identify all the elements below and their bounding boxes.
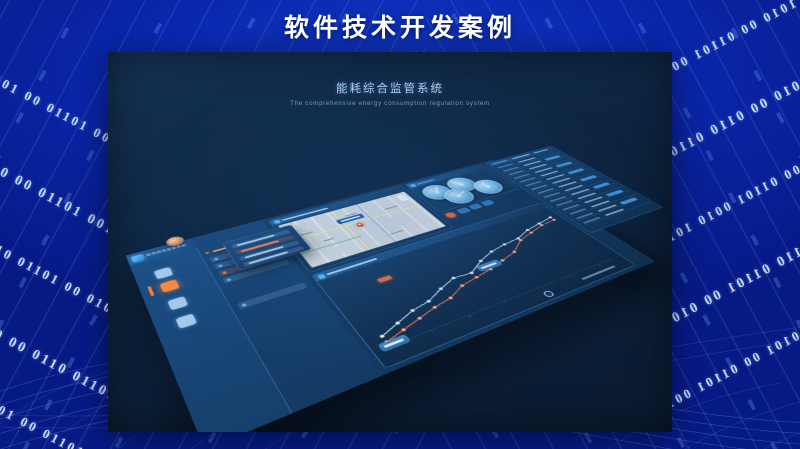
sidebar-item-building-icon[interactable] bbox=[154, 267, 174, 280]
map-label bbox=[384, 205, 398, 210]
slide-title: 软件技术开发案例 bbox=[0, 8, 800, 44]
map-block bbox=[333, 242, 356, 254]
showcase-panel: 能耗综合监管系统 The comprehensive energy consum… bbox=[108, 52, 672, 432]
location-pin-icon[interactable] bbox=[355, 222, 364, 227]
map-block bbox=[385, 214, 414, 228]
map-zoom-control[interactable] bbox=[395, 194, 409, 202]
dashboard-mockup: 能耗综合监管系统 bbox=[160, 124, 630, 394]
gauge-panel-title-bar bbox=[416, 179, 435, 185]
app-logo-icon bbox=[131, 254, 145, 263]
menu-dot-icon bbox=[241, 303, 247, 307]
map-label bbox=[323, 238, 334, 242]
sidebar-item-cloud-icon[interactable] bbox=[175, 313, 197, 328]
sidebar-item-chart-icon[interactable] bbox=[159, 279, 179, 292]
dashboard-brand: 能耗综合监管系统 bbox=[126, 238, 197, 266]
dashboard-deck: 能耗综合监管系统 bbox=[126, 159, 657, 432]
product-title-en: The comprehensive energy consumption reg… bbox=[108, 100, 672, 107]
product-title-cn: 能耗综合监管系统 bbox=[108, 80, 672, 96]
brand-label: 能耗综合监管系统 bbox=[146, 244, 187, 258]
map-label bbox=[390, 230, 404, 235]
sidebar-active-indicator bbox=[147, 286, 154, 296]
sidebar-item-qr-icon[interactable] bbox=[167, 296, 188, 310]
map-icon bbox=[273, 220, 280, 224]
gauge-icon bbox=[410, 184, 417, 187]
